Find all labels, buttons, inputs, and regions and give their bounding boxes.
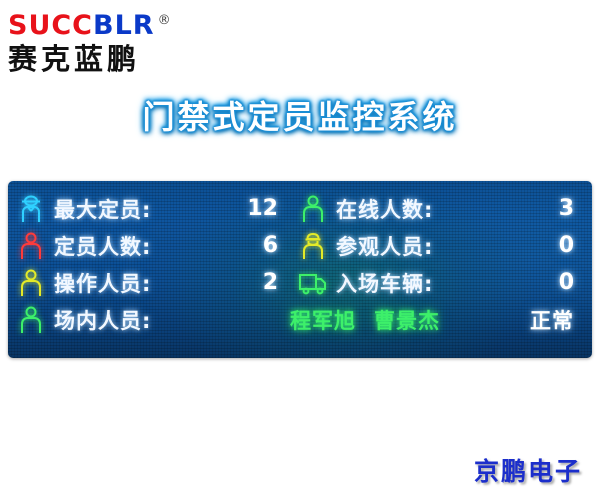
led-row: 操作人员: 2 入场车辆: 0: [8, 264, 592, 301]
person-with-cap-icon: [8, 195, 54, 223]
value-vehicle-count: 0: [508, 270, 586, 295]
led-cell-operator-count: 操作人员: 2: [8, 268, 290, 298]
value-online-count: 3: [508, 196, 586, 221]
registered-trademark-icon: ®: [158, 13, 172, 28]
person-icon: [8, 269, 54, 297]
value-operator-count: 2: [212, 270, 290, 295]
value-assigned-count: 6: [212, 233, 290, 258]
label-assigned-count: 定员人数:: [54, 231, 212, 261]
occupant-name: 曹景杰: [374, 305, 440, 335]
value-visitor-count: 0: [508, 233, 586, 258]
value-max-capacity: 12: [212, 196, 290, 221]
label-max-capacity: 最大定员:: [54, 194, 212, 224]
logo-wordmark: SUCCBLR®: [8, 6, 208, 41]
person-with-helmet-icon: [290, 232, 336, 260]
led-cell-visitor-count: 参观人员: 0: [290, 231, 586, 261]
footer-company-name: 京鹏电子: [474, 452, 582, 488]
label-operator-count: 操作人员:: [54, 268, 212, 298]
led-row: 最大定员: 12 在线人数: 3: [8, 190, 592, 227]
led-cell-occupants-values: 程军旭 曹景杰 正常: [290, 305, 586, 335]
led-cell-online-count: 在线人数: 3: [290, 194, 586, 224]
led-row-occupants: 场内人员: 程军旭 曹景杰 正常: [8, 301, 592, 338]
logo-wordmark-succ: SUCC: [8, 10, 93, 41]
logo-wordmark-blr: BLR: [93, 10, 155, 41]
person-icon: [8, 232, 54, 260]
led-cell-assigned-count: 定员人数: 6: [8, 231, 290, 261]
page-title: 门禁式定员监控系统: [0, 92, 600, 138]
led-rows: 最大定员: 12 在线人数: 3: [8, 181, 592, 338]
company-logo: SUCCBLR® 赛克蓝鹏: [8, 6, 208, 72]
led-cell-max-capacity: 最大定员: 12: [8, 194, 290, 224]
led-row: 定员人数: 6 参观人员: 0: [8, 227, 592, 264]
label-vehicle-count: 入场车辆:: [336, 268, 508, 298]
led-cell-vehicle-count: 入场车辆: 0: [290, 268, 586, 298]
person-icon: [290, 195, 336, 223]
truck-icon: [290, 271, 336, 295]
person-icon: [8, 306, 54, 334]
logo-chinese-name: 赛克蓝鹏: [8, 42, 208, 76]
label-occupants: 场内人员:: [54, 305, 290, 335]
led-display-panel: 最大定员: 12 在线人数: 3: [8, 181, 592, 358]
label-online-count: 在线人数:: [336, 194, 508, 224]
status-badge: 正常: [530, 305, 586, 335]
label-visitor-count: 参观人员:: [336, 231, 508, 261]
led-cell-occupants-label: 场内人员:: [8, 305, 290, 335]
occupant-name-list: 程军旭 曹景杰: [290, 305, 530, 335]
occupant-name: 程军旭: [290, 305, 356, 335]
